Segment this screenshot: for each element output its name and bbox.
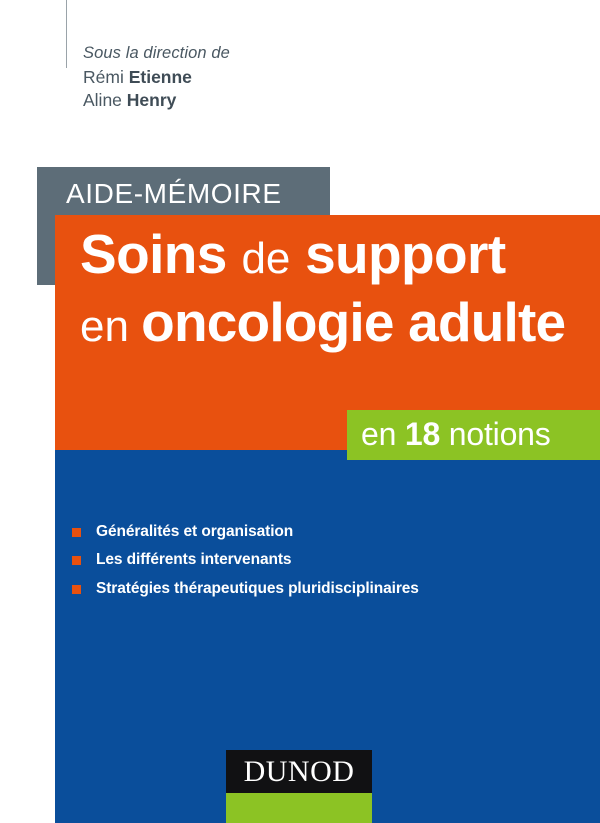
square-bullet-icon — [72, 528, 81, 537]
book-cover: Sous la direction de Rémi Etienne Aline … — [0, 0, 600, 823]
author-2-last: Henry — [127, 90, 177, 110]
collection-label: AIDE-MÉMOIRE — [66, 178, 282, 210]
list-item: Les différents intervenants — [72, 550, 592, 569]
notions-label: en 18 notions — [361, 416, 551, 453]
direction-label: Sous la direction de — [83, 43, 413, 64]
square-bullet-icon — [72, 556, 81, 565]
notions-prefix: en — [361, 416, 405, 452]
author-1-last: Etienne — [129, 67, 192, 87]
list-item-label: Les différents intervenants — [96, 550, 291, 569]
list-item-label: Stratégies thérapeutiques pluridisciplin… — [96, 579, 419, 598]
subject-list: Généralités et organisation Les différen… — [72, 522, 592, 607]
book-title: Soins de support en oncologie adulte — [80, 226, 600, 350]
publisher-logo: DUNOD — [226, 750, 372, 823]
title-line-1-bold-a: Soins — [80, 223, 241, 285]
notions-count: 18 — [405, 416, 440, 452]
notions-suffix: notions — [440, 416, 550, 452]
title-line-1-bold-b: support — [290, 223, 505, 285]
title-line-1: Soins de support — [80, 226, 600, 282]
author-1-first: Rémi — [83, 67, 129, 87]
publisher-logo-green-bar — [226, 793, 372, 823]
square-bullet-icon — [72, 585, 81, 594]
authors-block: Sous la direction de Rémi Etienne Aline … — [83, 43, 413, 112]
title-line-1-light: de — [241, 234, 290, 283]
title-line-2: en oncologie adulte — [80, 294, 600, 350]
title-line-2-bold: oncologie adulte — [141, 291, 565, 353]
subjects-block: Généralités et organisation Les différen… — [55, 450, 600, 823]
notions-band: en 18 notions — [347, 410, 600, 460]
title-line-2-light: en — [80, 302, 141, 351]
list-item-label: Généralités et organisation — [96, 522, 293, 541]
publisher-wordmark: DUNOD — [226, 750, 372, 793]
author-2-first: Aline — [83, 90, 127, 110]
list-item: Stratégies thérapeutiques pluridisciplin… — [72, 579, 592, 598]
author-1: Rémi Etienne — [83, 66, 413, 89]
author-2: Aline Henry — [83, 89, 413, 112]
list-item: Généralités et organisation — [72, 522, 592, 541]
vertical-rule-divider — [66, 0, 67, 68]
